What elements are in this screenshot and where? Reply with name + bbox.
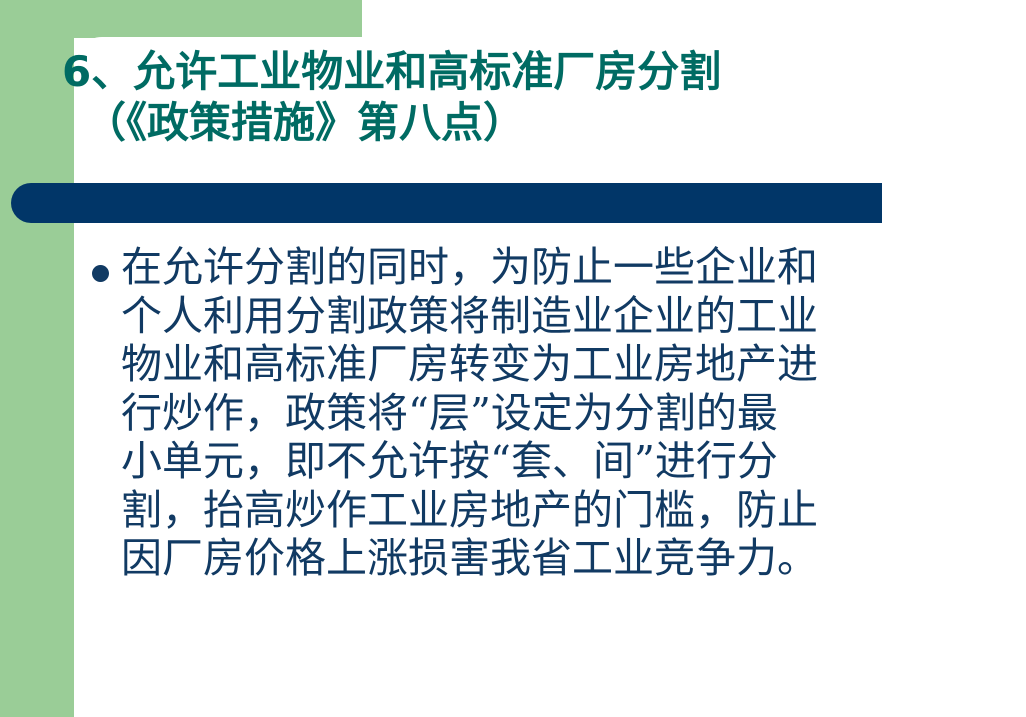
slide-canvas: 6、允许工业物业和高标准厂房分割 （《政策措施》第八点） 在允许分割的同时，为防… [0,0,1026,717]
body-line: 割，抬高炒作工业房地产的门槛，防止 [121,486,1002,535]
bullet-point-icon [92,265,109,282]
body-line: 小单元，即不允许按“套、间”进行分 [121,437,1002,486]
body-line: 个人利用分割政策将制造业企业的工业 [121,292,1002,341]
body-line: 在允许分割的同时，为防止一些企业和 [121,243,1002,292]
body-line: 因厂房价格上涨损害我省工业竞争力。 [121,534,1002,583]
body-line: 物业和高标准厂房转变为工业房地产进 [121,340,1002,389]
body-paragraph: 在允许分割的同时，为防止一些企业和 个人利用分割政策将制造业企业的工业 物业和高… [121,243,1002,583]
title-divider-bar [11,183,882,223]
slide-title: 6、允许工业物业和高标准厂房分割 （《政策措施》第八点） [62,46,962,148]
body-bullet-item: 在允许分割的同时，为防止一些企业和 个人利用分割政策将制造业企业的工业 物业和高… [92,243,1002,583]
slide-title-line-1: 6、允许工业物业和高标准厂房分割 [62,46,962,97]
body-line: 行炒作，政策将“层”设定为分割的最 [121,389,1002,438]
slide-title-line-2: （《政策措施》第八点） [62,97,962,148]
